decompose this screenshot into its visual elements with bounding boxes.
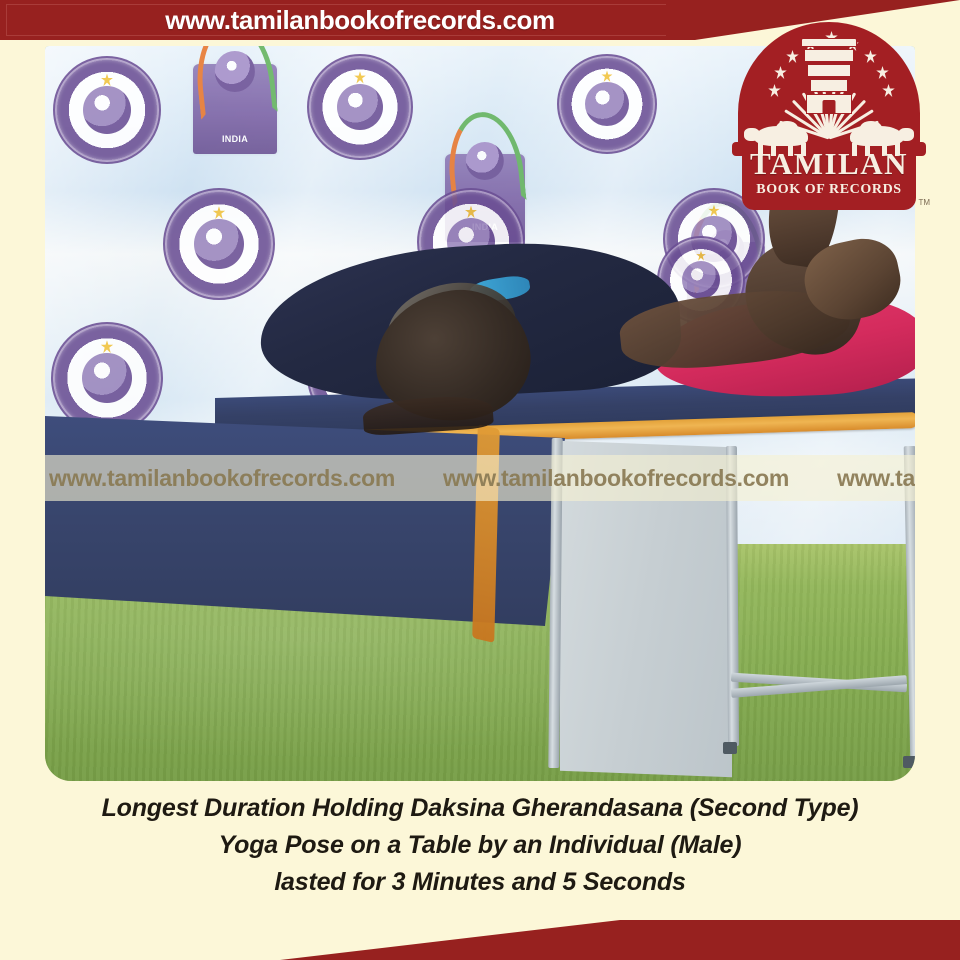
star-icon: [882, 84, 895, 97]
record-certificate-poster: INDIA INDIA INDIA INDIA INDIA INDIA INDI…: [0, 0, 960, 960]
logo-brand-name: TAMILAN: [742, 146, 916, 182]
trademark-symbol: TM: [918, 198, 930, 207]
caption-line-3: lasted for 3 Minutes and 5 Seconds: [0, 864, 960, 901]
caption-line-2: Yoga Pose on a Table by an Individual (M…: [0, 827, 960, 864]
record-caption: Longest Duration Holding Daksina Gherand…: [0, 790, 960, 901]
temple-gopuram-icon: [798, 38, 860, 116]
table-foot-cap: [723, 742, 737, 754]
logo-brand-subtitle: BOOK OF RECORDS: [742, 182, 916, 198]
bottom-accent-band: [0, 920, 960, 960]
star-icon: [864, 50, 877, 63]
website-url[interactable]: www.tamilanbookofrecords.com: [60, 0, 660, 40]
caption-line-1: Longest Duration Holding Daksina Gherand…: [0, 790, 960, 827]
performer-forehead: [362, 394, 494, 437]
table-foot-cap: [903, 756, 915, 768]
star-icon: [768, 84, 781, 97]
star-icon: [876, 66, 889, 79]
star-icon: [774, 66, 787, 79]
tamilan-book-of-records-logo[interactable]: TAMILAN BOOK OF RECORDS TM: [730, 22, 928, 214]
